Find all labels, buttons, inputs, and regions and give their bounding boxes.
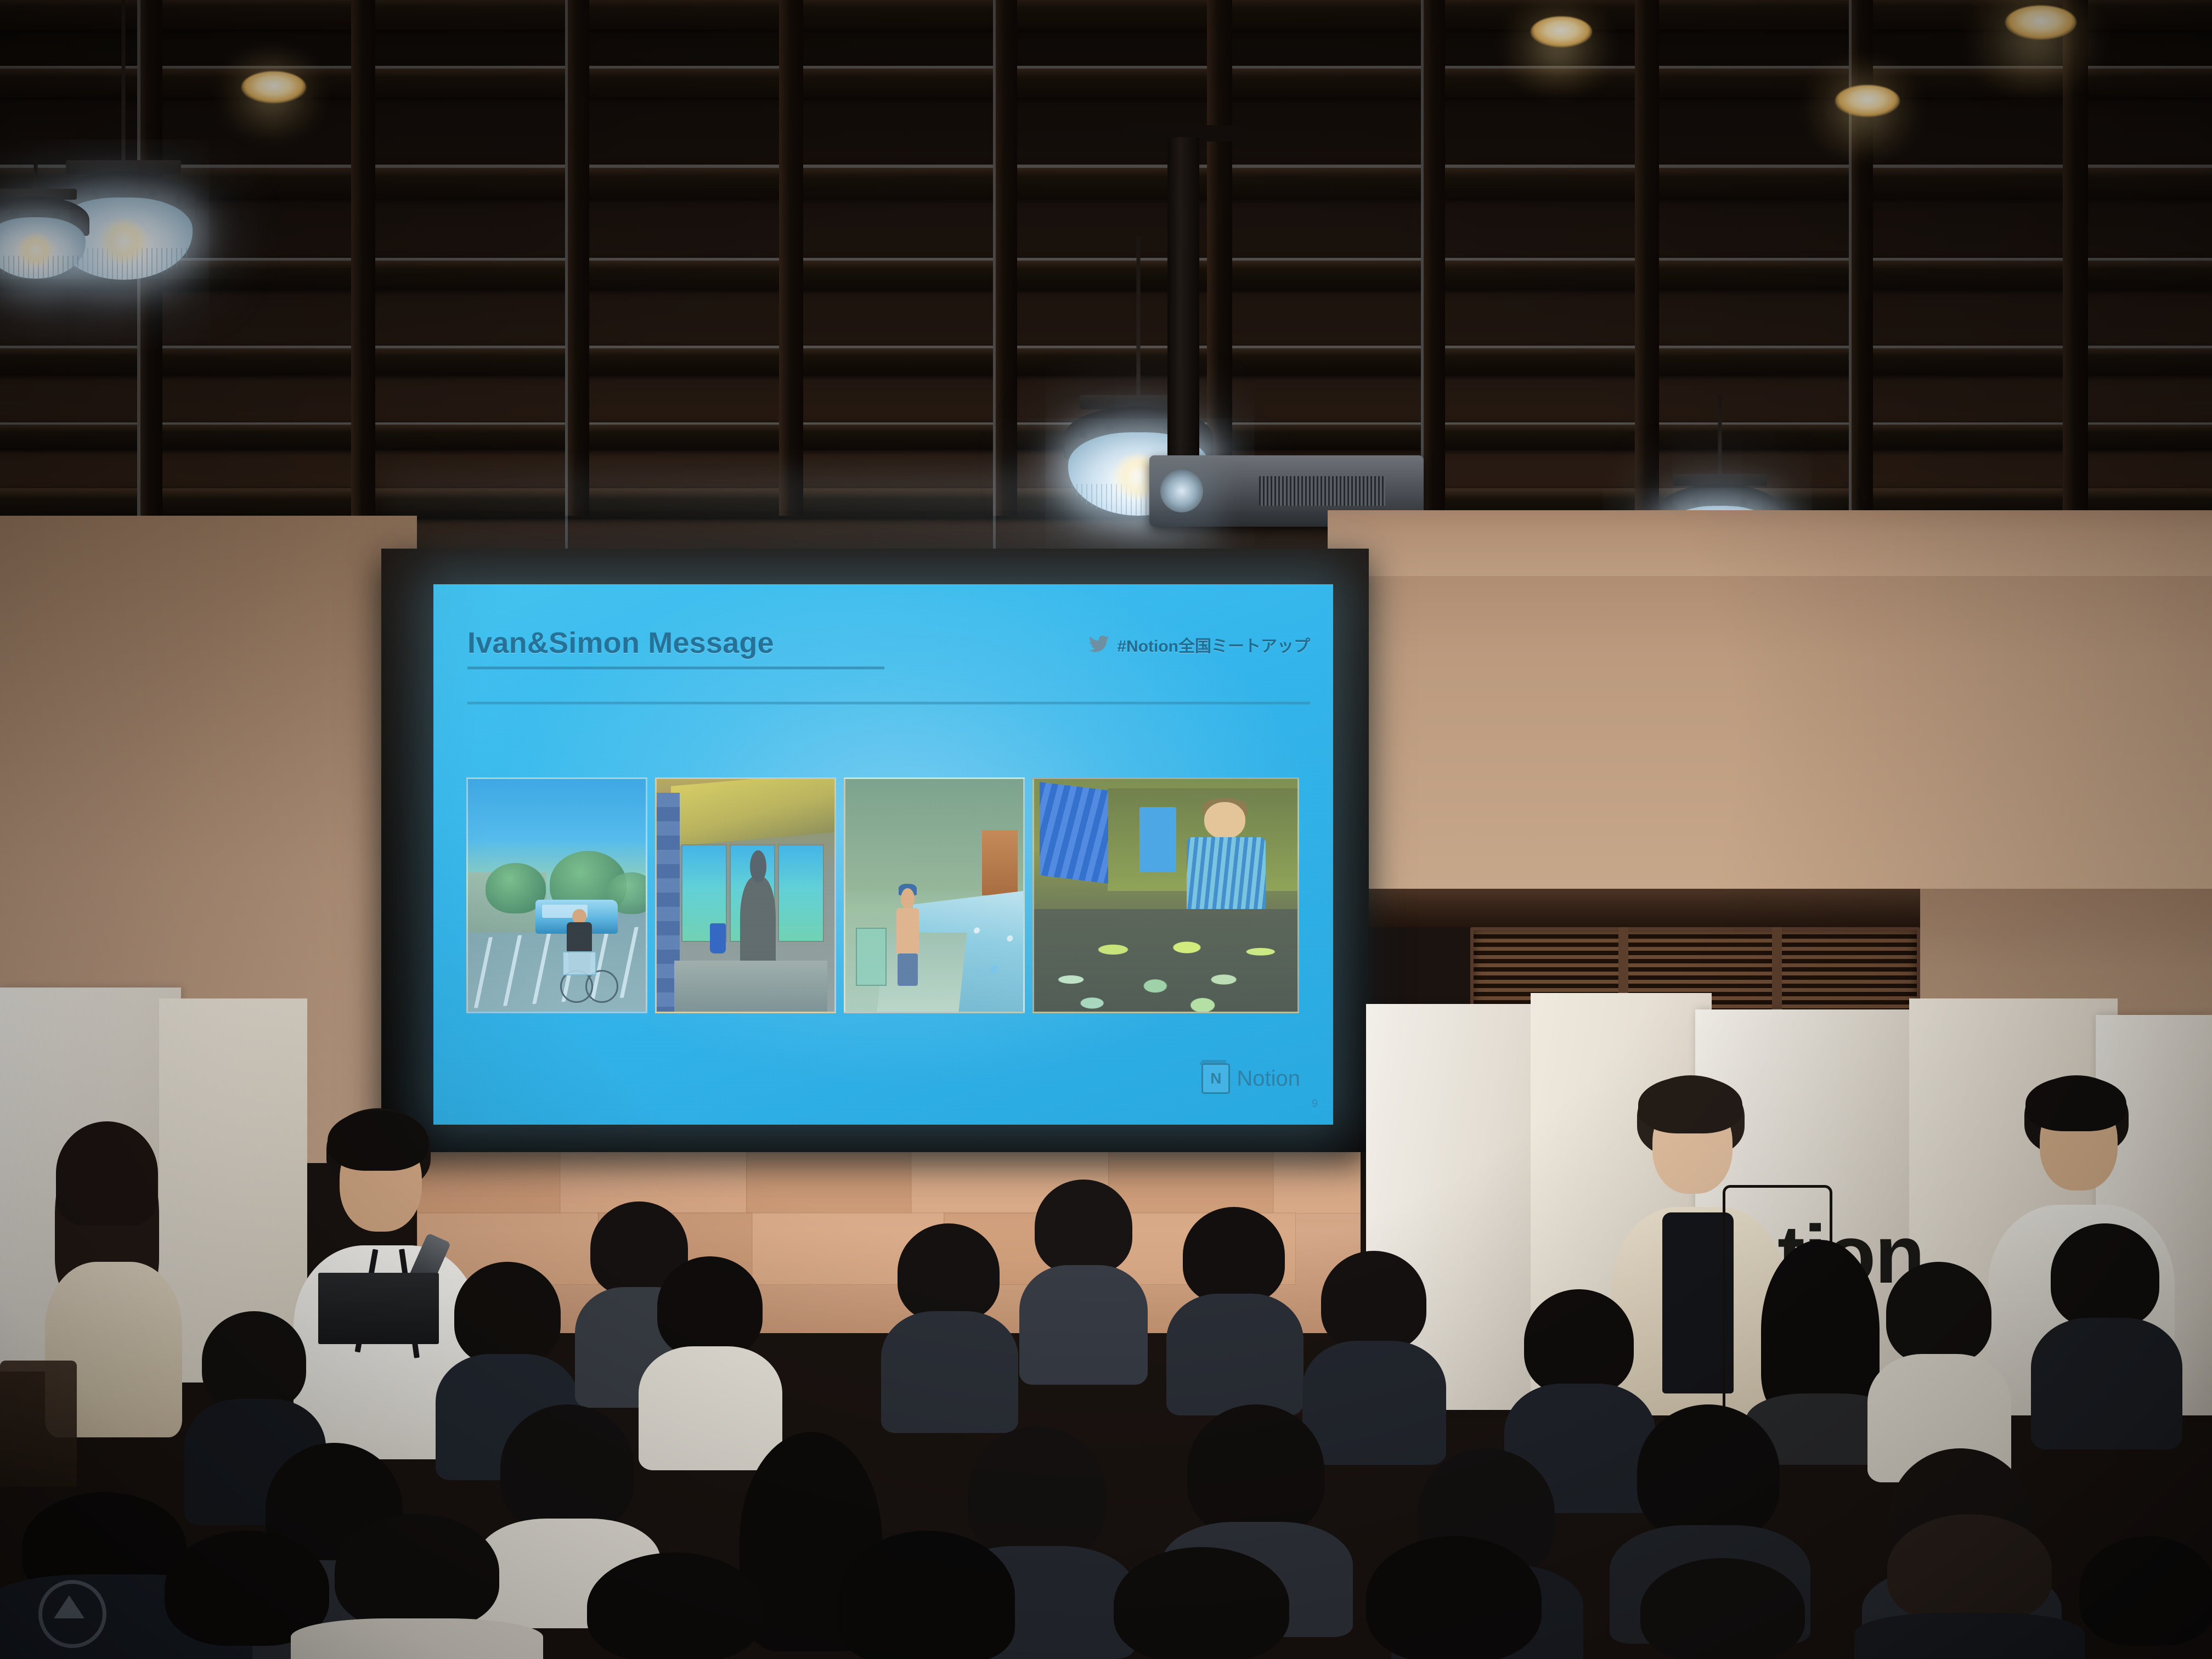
audience-member [1086, 1547, 1317, 1659]
slide-page-number: 9 [1312, 1098, 1318, 1110]
recessed-spot-light [1531, 16, 1592, 47]
audience-member [812, 1531, 1042, 1659]
audience-member [1026, 1180, 1141, 1377]
recessed-spot-light [241, 71, 306, 103]
audience-member [1854, 1514, 2085, 1659]
presentation-slide: Ivan&Simon Message #Notion全国ミートアップ [433, 584, 1333, 1125]
notion-n-cube-icon: N [1201, 1063, 1230, 1094]
slide-photo-1-cyclist [466, 777, 647, 1013]
presentation-room-photo: Ivan&Simon Message #Notion全国ミートアップ [0, 0, 2212, 1659]
audience-member [560, 1553, 790, 1659]
slide-photo-4-yukata-meal [1032, 777, 1299, 1013]
recessed-spot-light [2005, 5, 2076, 39]
star-icon [54, 1595, 84, 1618]
laptop [318, 1273, 439, 1344]
pendant-lamp-far-left-lower [0, 165, 104, 406]
audience-member [2063, 1536, 2212, 1659]
slide-title: Ivan&Simon Message [467, 626, 774, 660]
chair-back [0, 1361, 77, 1487]
audience-member [889, 1223, 1009, 1426]
recessed-spot-light [1835, 85, 1900, 117]
notion-wordmark: Notion [1237, 1066, 1300, 1091]
twitter-bird-icon [1086, 634, 1111, 656]
header-divider [467, 702, 1310, 704]
audience-member [307, 1514, 527, 1659]
slide-photo-row [466, 777, 1306, 1013]
slide-photo-3-supermarket [844, 777, 1025, 1013]
projection-screen: Ivan&Simon Message #Notion全国ミートアップ [433, 584, 1333, 1125]
audience-member [1339, 1536, 1569, 1659]
projector-mount-pole [1167, 137, 1199, 466]
audience-member [1174, 1207, 1295, 1410]
title-underline [467, 667, 884, 669]
audience-member [2041, 1223, 2172, 1448]
hashtag-text: #Notion全国ミートアップ [1117, 633, 1310, 657]
audience-member [1613, 1558, 1832, 1659]
slide-notion-logo: N Notion [1201, 1063, 1300, 1094]
slide-photo-2-cafe-interior [655, 777, 836, 1013]
slide-hashtag: #Notion全国ミートアップ [1086, 633, 1310, 657]
